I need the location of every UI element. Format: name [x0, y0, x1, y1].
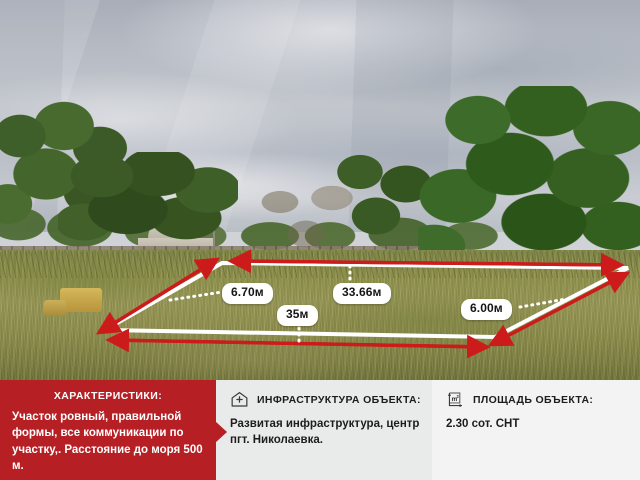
area-header: m 2 ПЛОЩАДЬ ОБЪЕКТА: [446, 390, 630, 409]
square-meter-icon: m 2 [446, 390, 465, 409]
panel-area: m 2 ПЛОЩАДЬ ОБЪЕКТА: 2.30 сот. СНТ [432, 380, 640, 480]
panel-characteristics: ХАРАКТЕРИСТИКИ: Участок ровный, правильн… [0, 380, 216, 480]
plot-measurement-overlay [0, 0, 640, 380]
leader-6-70 [170, 292, 222, 300]
dimension-label-6-70: 6.70м [222, 283, 273, 304]
panel-infrastructure: ИНФРАСТРУКТУРА ОБЪЕКТА: Развитая инфраст… [216, 380, 432, 480]
house-plus-icon [230, 390, 249, 409]
listing-photo-card: 6.70м 33.66м 35м 6.00м ХАРАКТЕРИСТИКИ: У… [0, 0, 640, 480]
dimension-label-33-66: 33.66м [333, 283, 391, 304]
svg-text:2: 2 [456, 394, 459, 399]
panel-arrow-notch [215, 421, 227, 443]
infrastructure-header: ИНФРАСТРУКТУРА ОБЪЕКТА: [230, 390, 422, 409]
infrastructure-title: ИНФРАСТРУКТУРА ОБЪЕКТА: [257, 394, 421, 406]
dimension-label-6-00: 6.00м [461, 299, 512, 320]
infrastructure-text: Развитая инфраструктура, центр пгт. Нико… [230, 416, 422, 449]
characteristics-text: Участок ровный, правильной формы, все ко… [12, 409, 204, 474]
info-panels: ХАРАКТЕРИСТИКИ: Участок ровный, правильн… [0, 380, 640, 480]
area-title: ПЛОЩАДЬ ОБЪЕКТА: [473, 394, 593, 406]
characteristics-title: ХАРАКТЕРИСТИКИ: [12, 390, 204, 402]
arrow-right-down-head [492, 274, 626, 344]
dimension-label-35: 35м [277, 305, 318, 326]
area-text: 2.30 сот. СНТ [446, 416, 630, 432]
